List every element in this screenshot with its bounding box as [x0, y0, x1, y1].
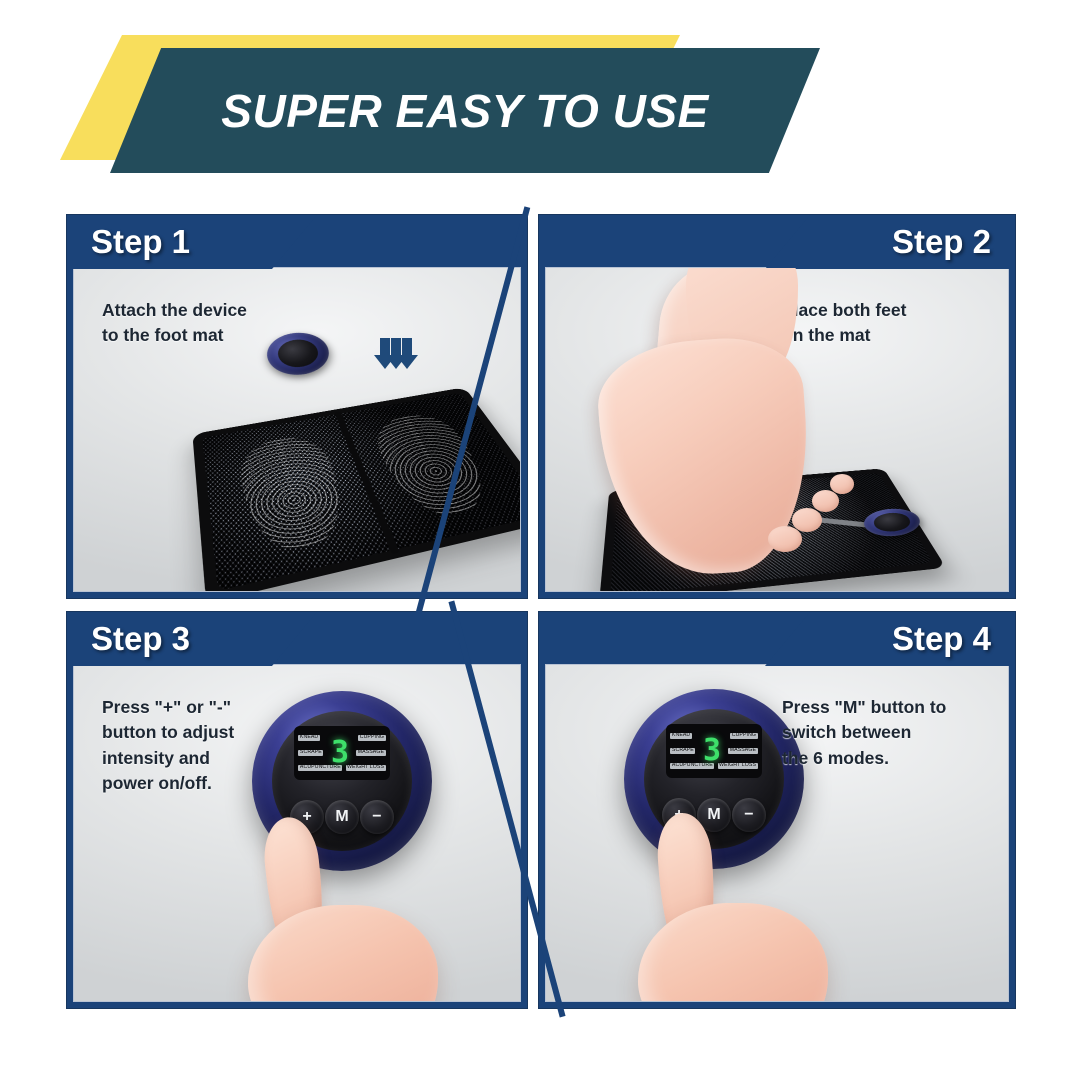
header-banner: SUPER EASY TO USE — [0, 0, 1080, 190]
step-2-caption: Place both feet on the mat — [782, 298, 982, 349]
device-display: KNEAD SCRAPE ACUPUNCTURE 3 CUPPING MASSA… — [666, 724, 761, 777]
steps-grid: Step 1 — [66, 214, 1016, 1009]
mode-label-right-0: CUPPING — [730, 733, 757, 738]
step-panel-1: Step 1 — [66, 214, 528, 599]
step-panel-4: Step 4 KNEAD SCRAPE ACUPUNCTURE — [538, 611, 1016, 1009]
intensity-value: 3 — [703, 737, 721, 764]
promo-page: SUPER EASY TO USE Step 1 — [0, 0, 1080, 1080]
step-3-tab: Step 3 — [67, 612, 317, 666]
mode-label-left-0: KNEAD — [670, 733, 691, 738]
step-4-caption: Press "M" button to switch between the 6… — [782, 695, 982, 771]
pointing-hand — [224, 817, 474, 1002]
mode-label-right-1: MASSAGE — [356, 750, 385, 755]
mode-label-right-1: MASSAGE — [728, 748, 757, 753]
mode-label-right-2: WEIGHT LOSS — [346, 765, 386, 770]
step-4-label: Step 4 — [892, 620, 991, 658]
step-3-caption: Press "+" or "-" button to adjust intens… — [102, 695, 312, 797]
step-4-image: KNEAD SCRAPE ACUPUNCTURE 3 CUPPING MASSA… — [545, 664, 1009, 1002]
pointing-hand — [608, 813, 858, 1002]
step-1-caption: Attach the device to the foot mat — [102, 298, 312, 349]
step-2-label: Step 2 — [892, 223, 991, 261]
page-title: SUPER EASY TO USE — [140, 48, 790, 173]
step-2-image: Place both feet on the mat — [545, 267, 1009, 592]
mode-label-right-2: WEIGHT LOSS — [718, 763, 758, 768]
step-panel-2: Step 2 — [538, 214, 1016, 599]
step-1-image: Attach the device to the foot mat — [73, 267, 521, 592]
step-4-tab: Step 4 — [765, 612, 1015, 666]
mode-label-left-1: SCRAPE — [670, 748, 695, 753]
step-3-label: Step 3 — [91, 620, 190, 658]
step-1-label: Step 1 — [91, 223, 190, 261]
step-3-image: KNEAD SCRAPE ACUPUNCTURE 3 CUPPING MASSA… — [73, 664, 521, 1002]
intensity-value: 3 — [331, 739, 349, 766]
step-panel-3: Step 3 KNEAD SCRAPE ACUPUNCTURE — [66, 611, 528, 1009]
step-2-tab: Step 2 — [765, 215, 1015, 269]
mode-label-right-0: CUPPING — [358, 735, 385, 740]
step-1-tab: Step 1 — [67, 215, 317, 269]
